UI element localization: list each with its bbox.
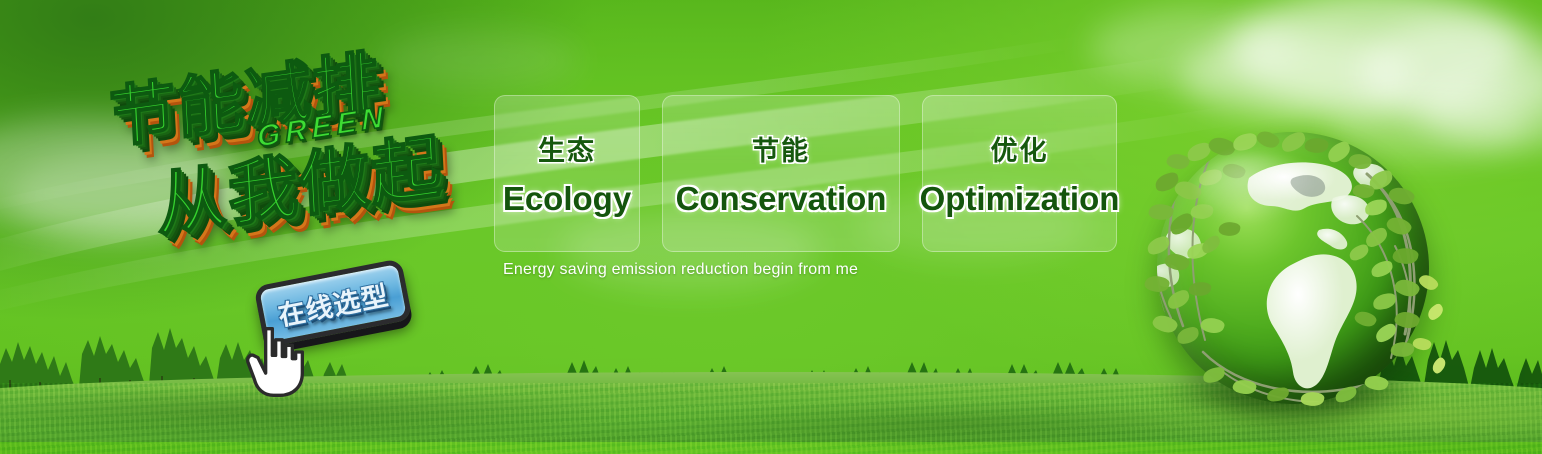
card-title-cn: 优化 <box>991 129 1049 168</box>
feature-card-ecology[interactable]: 生态 Ecology <box>494 95 640 252</box>
hero-title-artwork: 节能减排 GREEN 从我做起 <box>90 28 501 279</box>
hand-pointer-cursor-icon <box>243 322 315 402</box>
globe-continents-and-vines <box>1143 126 1441 426</box>
leafy-globe-graphic <box>1143 126 1441 426</box>
card-title-en: Ecology <box>503 180 631 218</box>
banner-tagline: Energy saving emission reduction begin f… <box>503 261 858 279</box>
green-banner: 节能减排 GREEN 从我做起 <box>0 0 1542 454</box>
feature-card-conservation[interactable]: 节能 Conservation <box>662 95 900 252</box>
feature-cards: 生态 Ecology 节能 Conservation 优化 Optimizati… <box>494 95 1117 252</box>
card-title-en: Optimization <box>920 180 1120 218</box>
card-title-cn: 生态 <box>538 129 596 168</box>
feature-card-optimization[interactable]: 优化 Optimization <box>922 95 1117 252</box>
card-title-cn: 节能 <box>752 129 810 168</box>
card-title-en: Conservation <box>676 180 887 218</box>
